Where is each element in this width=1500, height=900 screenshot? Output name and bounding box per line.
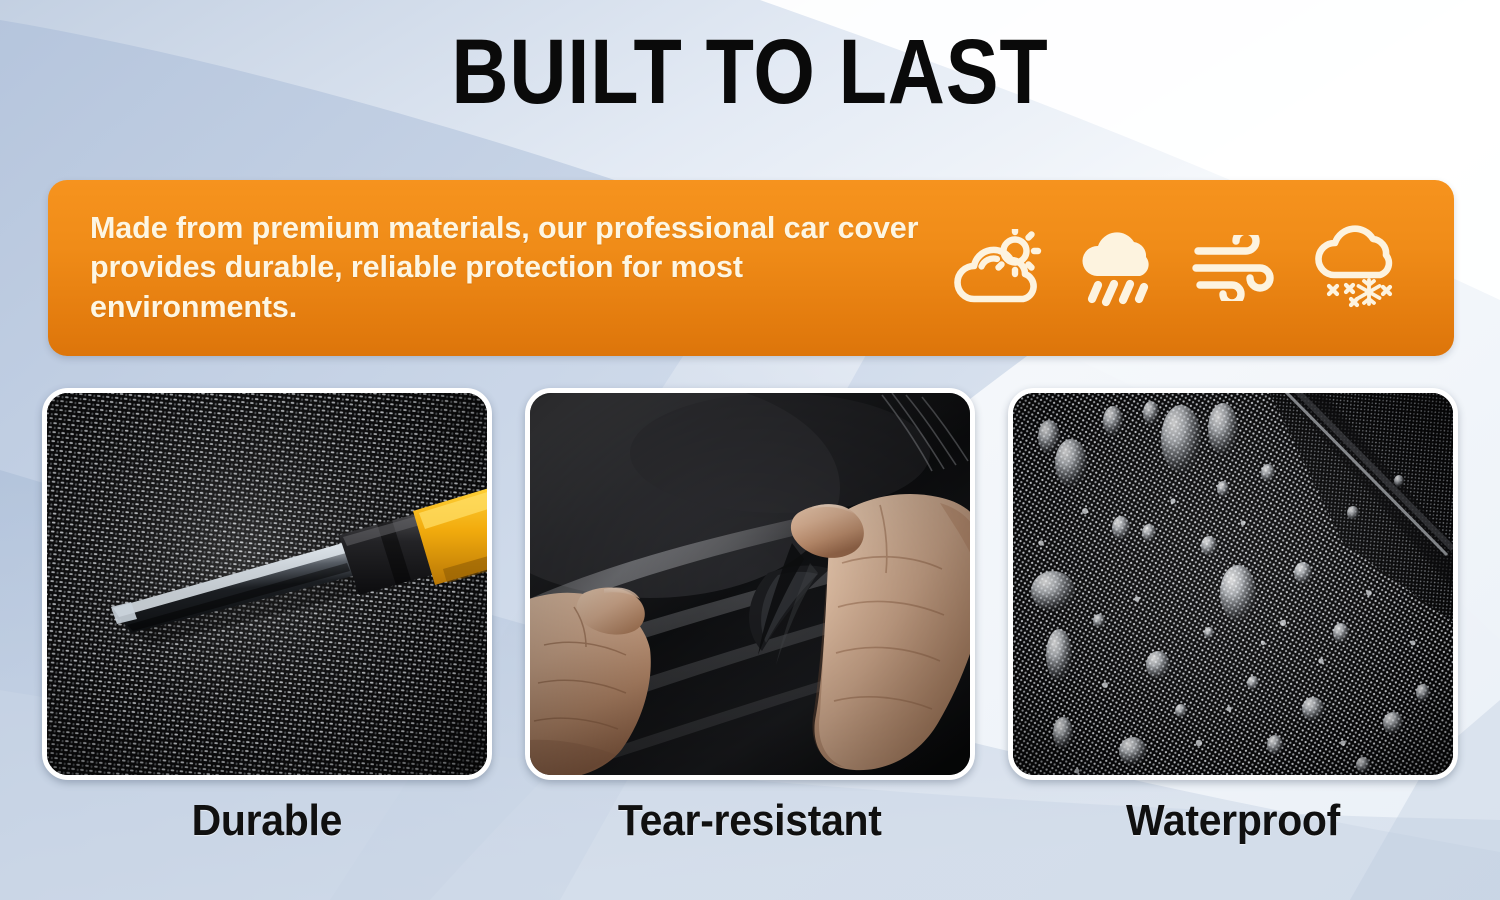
- feature-card-waterproof[interactable]: Waterproof: [1008, 388, 1458, 846]
- feature-image-frame[interactable]: [42, 388, 492, 780]
- wind-icon: [1190, 235, 1278, 301]
- feature-label-waterproof: Waterproof: [1126, 796, 1340, 846]
- feature-label-durable: Durable: [192, 796, 342, 846]
- weather-icon-group: [952, 225, 1424, 311]
- feature-image-frame[interactable]: [1008, 388, 1458, 780]
- hands-stretching-black-material-photo: [530, 393, 970, 775]
- snow-cloud-icon: [1310, 225, 1402, 311]
- feature-banner: Made from premium materials, our profess…: [48, 180, 1454, 356]
- rain-cloud-icon: [1076, 227, 1158, 309]
- banner-description: Made from premium materials, our profess…: [90, 209, 952, 328]
- water-beading-on-fabric-photo: [1013, 393, 1453, 775]
- woven-fabric-with-screwdriver-photo: [47, 393, 487, 775]
- page-title: BUILT TO LAST: [105, 26, 1395, 118]
- sun-behind-cloud-icon: [952, 229, 1044, 307]
- feature-card-row: Durable: [0, 388, 1500, 846]
- feature-label-tear-resistant: Tear-resistant: [618, 796, 882, 846]
- feature-image-frame[interactable]: [525, 388, 975, 780]
- feature-card-durable[interactable]: Durable: [42, 388, 492, 846]
- feature-card-tear-resistant[interactable]: Tear-resistant: [525, 388, 975, 846]
